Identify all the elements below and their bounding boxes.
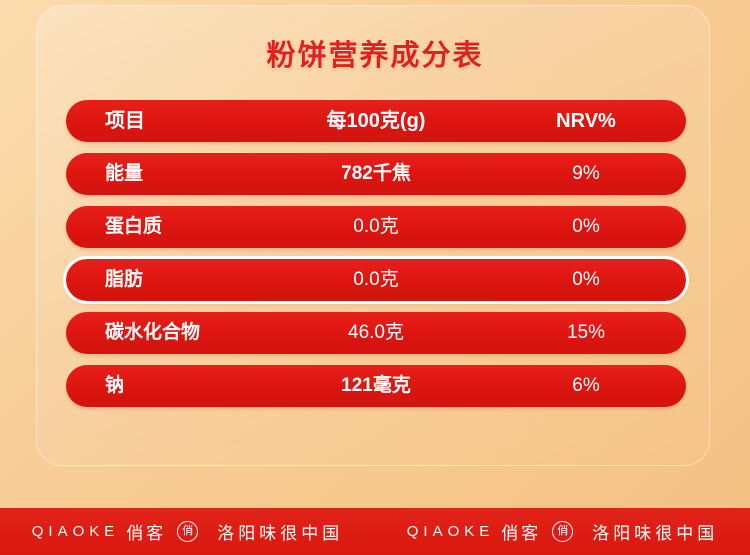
brand-chinese-name: 俏客	[501, 519, 541, 544]
brand-slogan: 洛阳味很中国	[592, 519, 718, 544]
table-row: 能量 782千焦 9%	[66, 153, 686, 195]
nutrient-name: 脂肪	[105, 259, 143, 301]
page-title: 粉饼营养成分表	[0, 32, 750, 74]
nutrient-name: 钠	[105, 365, 124, 407]
nutrient-name: 碳水化合物	[105, 312, 200, 354]
table-row: 钠 121毫克 6%	[66, 365, 686, 407]
nutrient-amount: 0.0克	[266, 259, 486, 301]
brand-unit: QIAOKE 俏客 俏 洛阳味很中国	[32, 519, 344, 544]
table-row: 碳水化合物 46.0克 15%	[66, 312, 686, 354]
brand-banner: QIAOKE 俏客 俏 洛阳味很中国 QIAOKE 俏客 俏 洛阳味很中国	[0, 508, 750, 555]
brand-latin-name: QIAOKE	[32, 523, 120, 540]
nutrient-amount: 0.0克	[266, 206, 486, 248]
nutrient-amount: 782千焦	[266, 153, 486, 195]
table-row-highlighted: 脂肪 0.0克 0%	[66, 259, 686, 301]
nutrient-nrv: 9%	[506, 153, 666, 195]
brand-chinese-name: 俏客	[126, 519, 166, 544]
brand-latin-name: QIAOKE	[407, 523, 495, 540]
brand-logo-icon: 俏	[552, 521, 573, 542]
nutrient-nrv: 0%	[506, 259, 666, 301]
table-row: 蛋白质 0.0克 0%	[66, 206, 686, 248]
nutrient-name: 能量	[105, 153, 143, 195]
nutrition-table: 项目 每100克(g) NRV% 能量 782千焦 9% 蛋白质 0.0克 0%…	[66, 100, 686, 407]
nutrient-nrv: 15%	[506, 312, 666, 354]
nutrient-nrv: 6%	[506, 365, 666, 407]
brand-unit: QIAOKE 俏客 俏 洛阳味很中国	[407, 519, 719, 544]
nutrient-amount: 46.0克	[266, 312, 486, 354]
header-amount-label: 每100克(g)	[266, 100, 486, 142]
table-header-row: 项目 每100克(g) NRV%	[66, 100, 686, 142]
nutrient-nrv: 0%	[506, 206, 666, 248]
nutrition-facts-page: 粉饼营养成分表 项目 每100克(g) NRV% 能量 782千焦 9% 蛋白质…	[0, 0, 750, 555]
header-nrv-label: NRV%	[506, 100, 666, 142]
nutrient-amount: 121毫克	[266, 365, 486, 407]
nutrient-name: 蛋白质	[105, 206, 162, 248]
header-item-label: 项目	[105, 100, 145, 142]
brand-logo-icon: 俏	[177, 521, 198, 542]
brand-slogan: 洛阳味很中国	[217, 519, 343, 544]
